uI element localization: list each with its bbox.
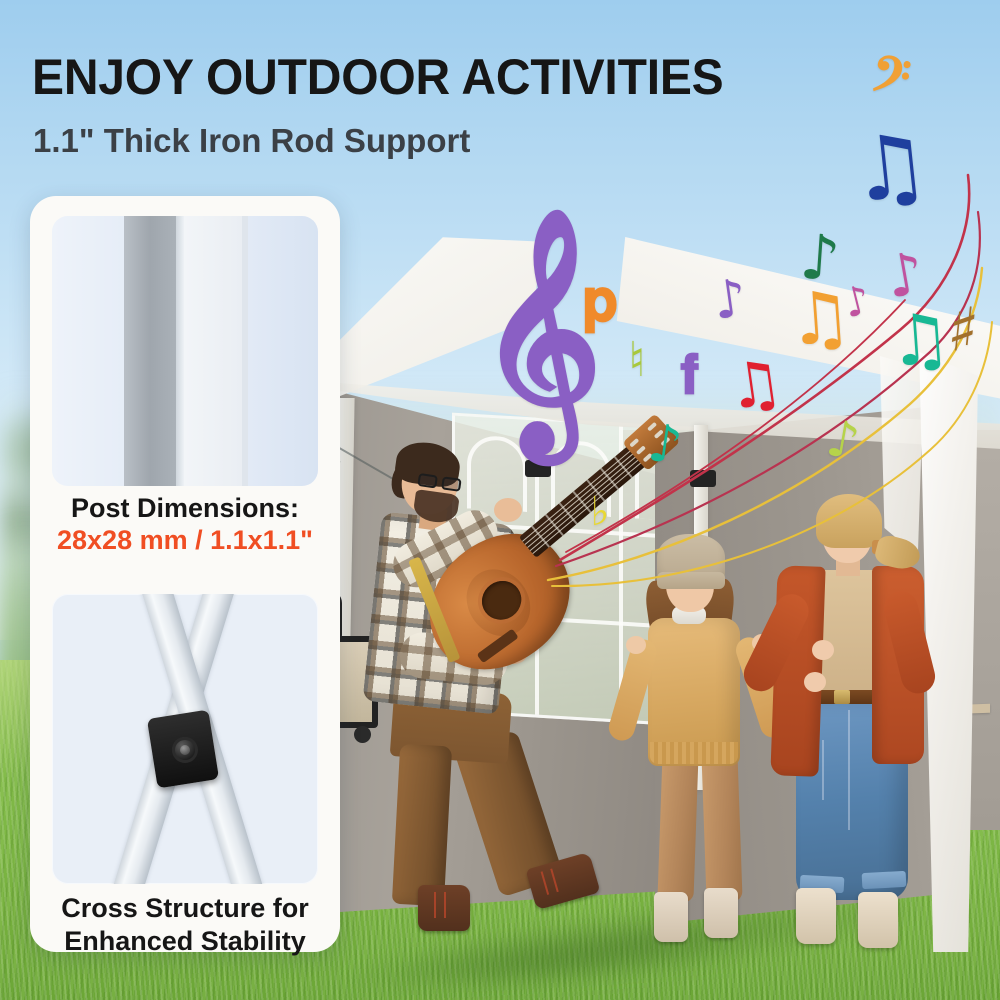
girl-boot-right [704, 888, 738, 938]
woman-boot-right [858, 892, 898, 948]
man-leg-front [392, 744, 452, 907]
post-dimensions-label: Post Dimensions: [30, 492, 340, 524]
cross-structure-image [52, 594, 318, 884]
girl-sweater-hem [650, 742, 738, 764]
page-headline: ENJOY OUTDOOR ACTIVITIES [32, 50, 724, 104]
man-boot-front [418, 885, 470, 931]
girl-beanie-brim [657, 572, 725, 589]
cross-structure-line-1: Cross Structure for [30, 892, 340, 925]
girl-hand-left [626, 636, 646, 654]
canopy-clamp-middle [690, 470, 716, 487]
cross-structure-line-2: Enhanced Stability [30, 925, 340, 958]
post-dimensions-caption: Post Dimensions: 28x28 mm / 1.1x1.1" [30, 492, 340, 556]
woman-belt-buckle [834, 690, 850, 704]
woman-jeans-cuff-right [862, 871, 907, 889]
clamp-bolt [172, 737, 198, 763]
post-dimensions-value: 28x28 mm / 1.1x1.1" [30, 524, 340, 556]
post-closeup-image [52, 216, 318, 486]
feature-info-panel: Post Dimensions: 28x28 mm / 1.1x1.1" Cro… [30, 196, 340, 952]
girl-boot-left [654, 892, 688, 942]
guitar-neck [519, 441, 651, 558]
canopy-corner-panel [880, 356, 924, 556]
cross-structure-caption: Cross Structure for Enhanced Stability [30, 892, 340, 958]
woman-hand-right [804, 672, 826, 692]
woman-boot-left [796, 888, 836, 944]
girl-leg-right [701, 751, 742, 902]
girl-leg-left [657, 751, 698, 902]
woman-hand-left [812, 640, 834, 660]
page-subtitle: 1.1" Thick Iron Rod Support [33, 122, 470, 160]
product-marketing-image: 𝄞𝄢♫♪♪♫♫♯♫𝐩♪♮𝐟♪♪♭♪ ENJOY OUTDOOR ACTIVITI… [0, 0, 1000, 1000]
